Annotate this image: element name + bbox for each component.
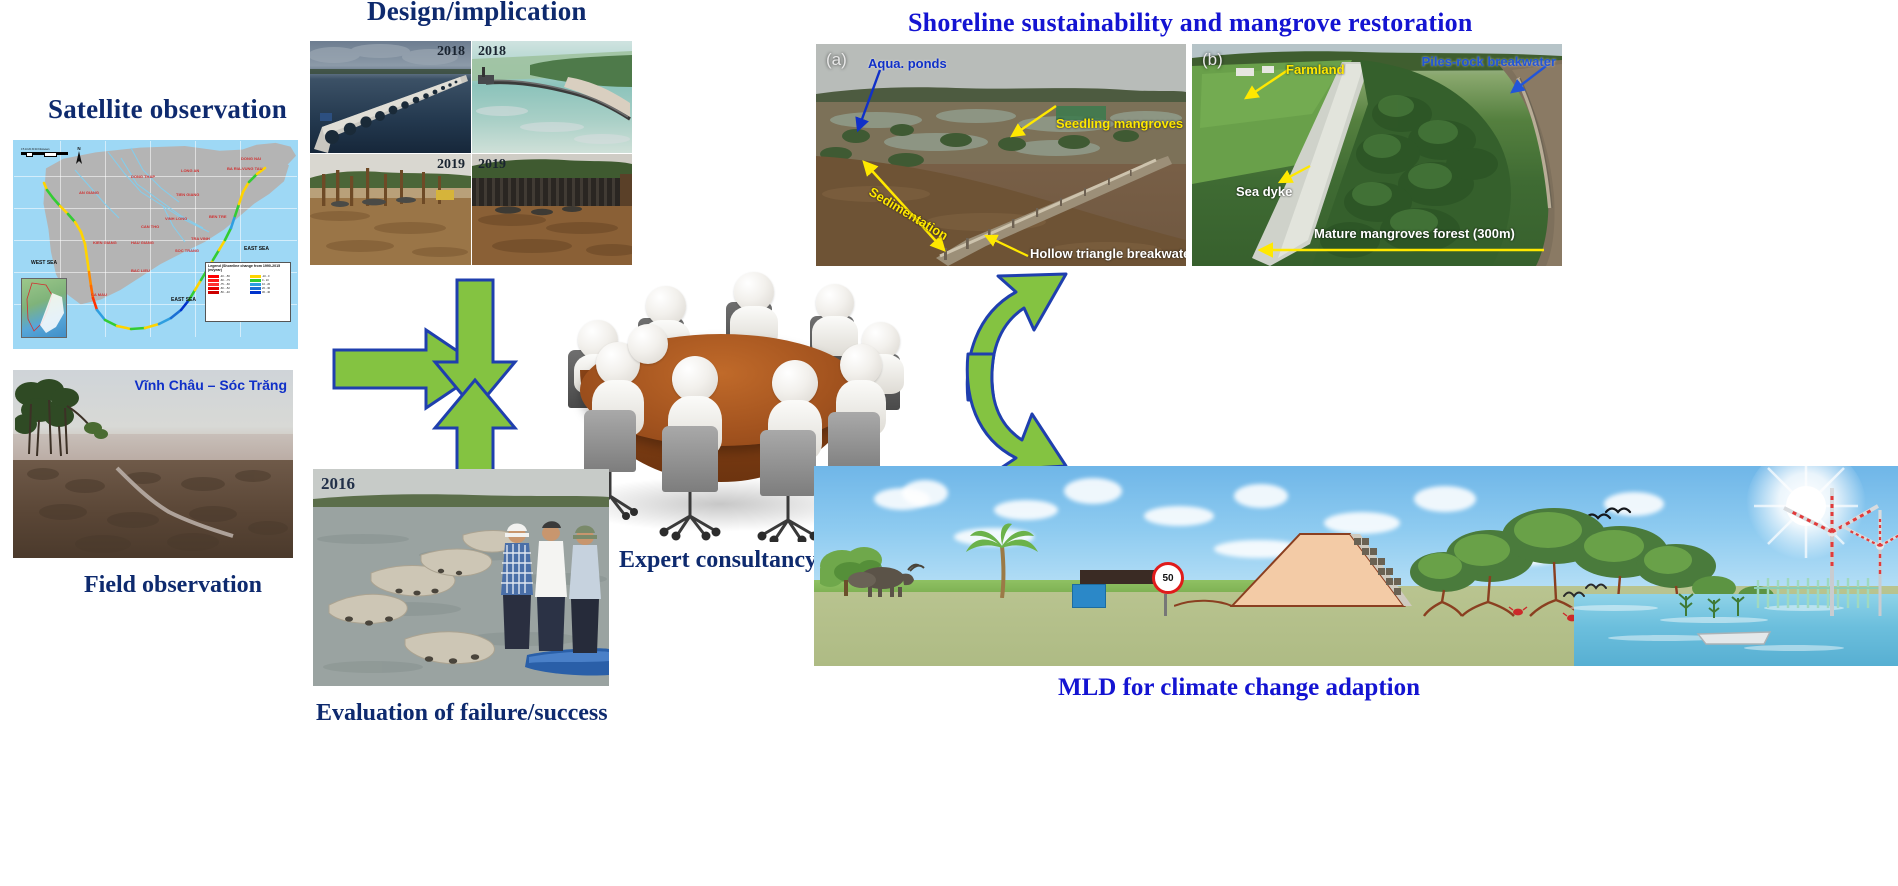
- satellite-observation-title: Satellite observation: [48, 94, 287, 125]
- evaluation-photo-people: [313, 469, 609, 686]
- map-province-label: BEN TRE: [209, 214, 227, 219]
- map-province-label: BAC LIEU: [131, 268, 150, 273]
- field-observation-photo: Vĩnh Châu – Sóc Trăng: [13, 370, 293, 558]
- map-province-label: LONG AN: [181, 168, 199, 173]
- map-province-label: VINH LONG: [165, 216, 187, 221]
- panel-a-annotation-arrows: [816, 44, 1186, 266]
- panel-b-annotation-mature-mangroves: Mature mangroves forest (300m): [1314, 226, 1515, 241]
- panel-b-annotation-farmland: Farmland: [1286, 62, 1345, 77]
- design-photo-2018-b: 2018: [472, 41, 632, 153]
- map-legend-title: Legend (Shoreline change from 1990-2015 …: [206, 263, 290, 272]
- cloud: [1234, 484, 1288, 508]
- panel-a-annotation-seedling-mangroves: Seedling mangroves: [1056, 116, 1183, 131]
- legend-row: -75 - -60: [208, 283, 248, 286]
- legend-row: 30 - 40: [250, 291, 290, 294]
- legend-row: -50 - -40: [208, 291, 248, 294]
- legend-row: 10 - 20: [250, 283, 290, 286]
- design-photo-year: 2019: [478, 157, 506, 173]
- cloud: [1064, 478, 1122, 504]
- design-photo-year: 2019: [437, 157, 465, 173]
- design-implication-title: Design/implication: [367, 0, 587, 27]
- design-photo-2019-a: 2019: [310, 154, 471, 265]
- map-province-label: DONG NAI: [241, 156, 261, 161]
- water-tank: [1072, 584, 1106, 608]
- map-province-label: CAN THO: [141, 224, 159, 229]
- cloud: [1144, 506, 1214, 526]
- map-north-arrow: N: [75, 146, 83, 170]
- legend-row: -60 - -52: [208, 287, 248, 290]
- cloud: [994, 500, 1058, 520]
- mangrove-trees: [15, 376, 111, 468]
- map-province-label: DONG THAP: [131, 174, 155, 179]
- satellite-map-figure: AN GIANG DONG THAP LONG AN DONG NAI BA R…: [13, 140, 298, 349]
- mld-caption: MLD for climate change adaption: [1058, 674, 1420, 702]
- map-sea-label-east: EAST SEA: [244, 246, 269, 252]
- design-photo-year: 2018: [478, 44, 506, 60]
- shoreline-panel-a: (a) Aqua. ponds Seedling mangroves Sedim…: [816, 44, 1186, 266]
- panel-a-annotation-hollow-triangle-breakwater: Hollow triangle breakwater: [1030, 246, 1186, 261]
- shoreline-sustainability-title: Shoreline sustainability and mangrove re…: [908, 8, 1473, 38]
- panel-a-annotation-aqua-ponds: Aqua. ponds: [868, 56, 947, 71]
- boat-icon: [1694, 624, 1784, 648]
- legend-row: -40 - -56: [208, 275, 248, 278]
- map-province-label: SOC TRANG: [175, 248, 199, 253]
- evaluation-photo: 2016: [313, 469, 609, 686]
- map-province-label: HAU GIANG: [131, 240, 154, 245]
- map-province-label: TRA VINH: [191, 236, 210, 241]
- expert-consultancy-caption: Expert consultancy: [619, 547, 817, 574]
- panel-b-annotation-piles-rock-breakwater: Piles-rock breakwater: [1422, 54, 1556, 69]
- cloud: [902, 480, 948, 506]
- coastal-building: [1080, 570, 1162, 584]
- design-photo-2019-b: 2019: [472, 154, 632, 265]
- legend-row: 0 - 10: [250, 279, 290, 282]
- legend-row: 20 - 30: [250, 287, 290, 290]
- shoreline-panel-b: (b) Farmland Piles-rock breakwater Sea d…: [1192, 44, 1562, 266]
- map-province-label: KIEN GIANG: [93, 240, 117, 245]
- mld-illustration: 50: [814, 466, 1898, 666]
- design-photo-2018-a: 2018: [310, 41, 471, 153]
- legend-row: -10 - 0: [250, 275, 290, 278]
- buffalo-icon: [848, 562, 938, 598]
- wind-turbine-icon-2: [1834, 508, 1898, 628]
- map-province-label: BA RIA-VUNG TAU: [227, 166, 263, 171]
- mudflat-texture: [13, 456, 293, 558]
- legend-row: -60 - -75: [208, 279, 248, 282]
- map-inset-locator: [21, 278, 67, 338]
- map-province-label: TIEN GIANG: [176, 192, 199, 197]
- map-scalebar: 0 5 10 20 30 40 Kilometers: [21, 148, 83, 157]
- map-legend: Legend (Shoreline change from 1990-2015 …: [205, 262, 291, 322]
- field-photo-location-label: Vĩnh Châu – Sóc Trăng: [135, 377, 287, 393]
- map-sea-label-west: WEST SEA: [31, 260, 57, 266]
- palm-tree-icon: [964, 522, 1044, 598]
- mangrove-seedlings: [1672, 582, 1752, 630]
- arrow-expert-to-mld: [960, 352, 1080, 472]
- speed-limit-value: 50: [1162, 573, 1173, 584]
- design-photo-year: 2018: [437, 44, 465, 60]
- field-observation-caption: Field observation: [84, 572, 262, 599]
- evaluation-photo-year: 2016: [321, 474, 355, 494]
- map-sea-label-east-2: EAST SEA: [171, 297, 196, 303]
- panel-b-annotation-sea-dyke: Sea dyke: [1236, 184, 1292, 199]
- map-province-label: AN GIANG: [79, 190, 99, 195]
- shorebird-icon: [1556, 578, 1616, 608]
- evaluation-caption: Evaluation of failure/success: [316, 700, 608, 727]
- map-province-label: CA MAU: [91, 292, 107, 297]
- map-scalebar-text: 0 5 10 20 30 40 Kilometers: [21, 148, 83, 151]
